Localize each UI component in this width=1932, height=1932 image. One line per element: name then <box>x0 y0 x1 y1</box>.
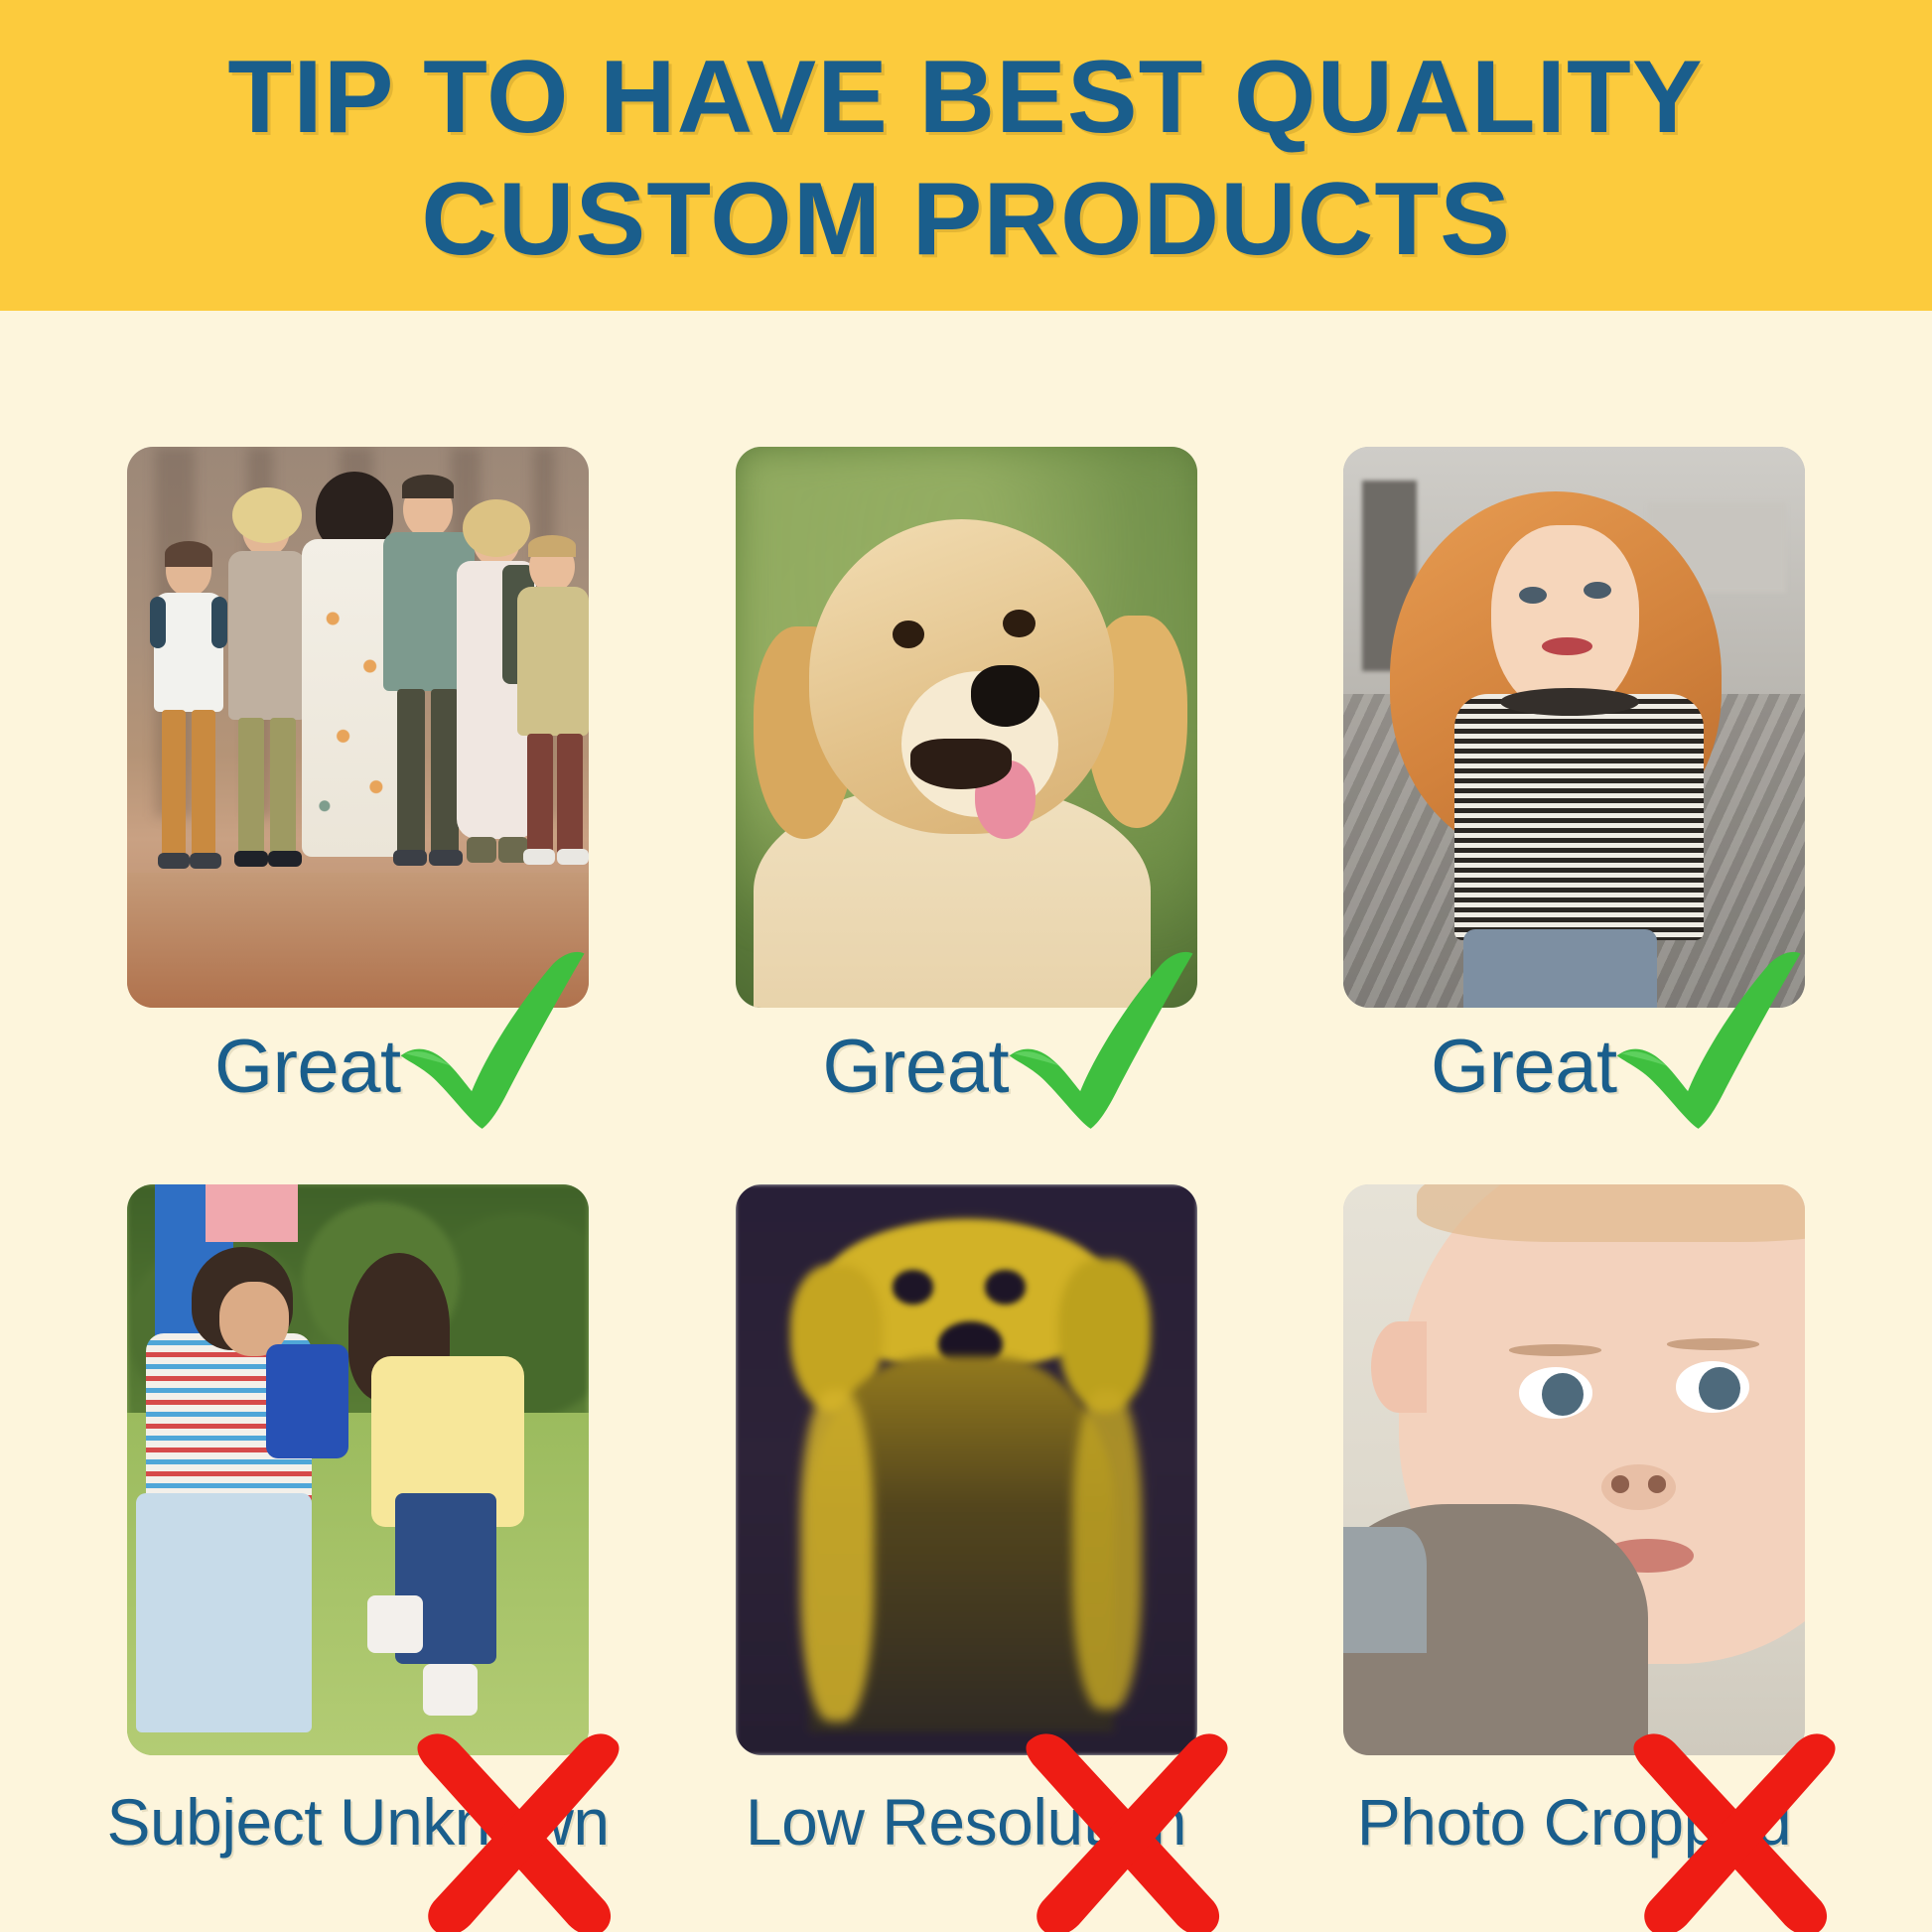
two-children-running-away-in-park-photo <box>127 1184 589 1755</box>
example-cell-lowres-dog: Low Resolution <box>736 1184 1197 1872</box>
caption-row: Great <box>127 1008 589 1125</box>
photo-card <box>736 1184 1197 1755</box>
header-banner: TIP TO HAVE BEST QUALITY CUSTOM PRODUCTS <box>0 0 1932 311</box>
baby-face-cropped-at-edge-photo <box>1343 1184 1805 1755</box>
caption-row: Photo Cropped <box>1343 1755 1805 1872</box>
photo-card <box>127 1184 589 1755</box>
caption-row: Great <box>1343 1008 1805 1125</box>
page-title-line-1: TIP TO HAVE BEST QUALITY <box>228 37 1704 159</box>
verdict-label: Great <box>1431 1024 1617 1110</box>
verdict-label: Great <box>823 1024 1010 1110</box>
photo-card <box>1343 447 1805 1008</box>
photo-card <box>1343 1184 1805 1755</box>
golden-retriever-portrait-green-background-photo <box>736 447 1197 1008</box>
caption-row: Low Resolution <box>736 1755 1197 1872</box>
verdict-label: Great <box>214 1024 401 1110</box>
caption-row: Subject Unknown <box>127 1755 589 1872</box>
good-examples-row: Great <box>127 447 1805 1125</box>
caption-row: Great <box>736 1008 1197 1125</box>
page-title-line-2: CUSTOM PRODUCTS <box>421 159 1511 281</box>
blurry-dark-dog-photo <box>736 1184 1197 1755</box>
photo-card <box>127 447 589 1008</box>
family-of-six-outdoors-red-rock-photo <box>127 447 589 1008</box>
verdict-label: Subject Unknown <box>106 1784 609 1860</box>
photo-card <box>736 447 1197 1008</box>
red-haired-woman-striped-shirt-street-photo <box>1343 447 1805 1008</box>
verdict-label: Photo Cropped <box>1357 1784 1792 1860</box>
example-cell-family: Great <box>127 447 589 1125</box>
verdict-label: Low Resolution <box>746 1784 1186 1860</box>
example-cell-kids: Subject Unknown <box>127 1184 589 1872</box>
bad-examples-row: Subject Unknown <box>127 1184 1805 1872</box>
example-cell-woman: Great <box>1343 447 1805 1125</box>
example-cell-dog: Great <box>736 447 1197 1125</box>
examples-grid: Great <box>0 447 1932 1872</box>
example-cell-baby: Photo Cropped <box>1343 1184 1805 1872</box>
